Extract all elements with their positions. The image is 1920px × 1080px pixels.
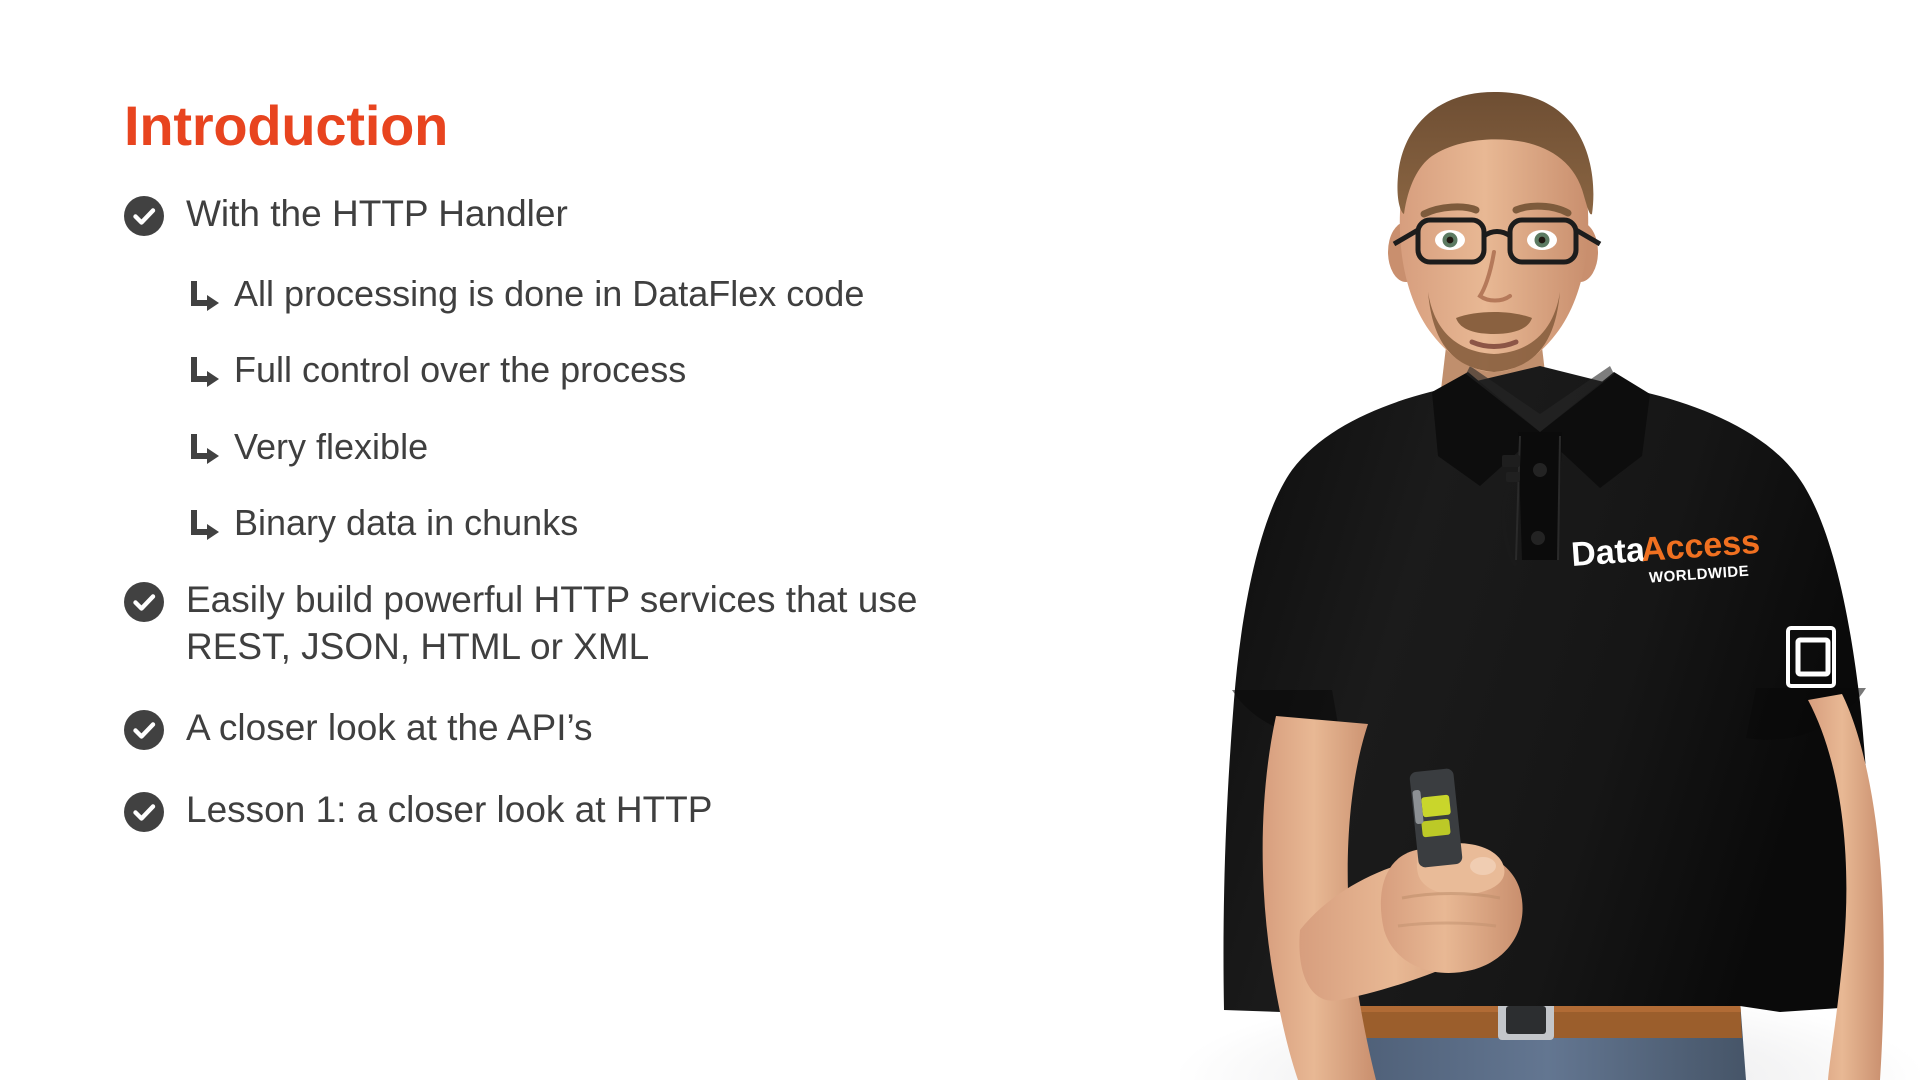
list-item: Very flexible xyxy=(124,424,1174,470)
floor-shadow xyxy=(1180,990,1920,1080)
list-item-label: Lesson 1: a closer look at HTTP xyxy=(186,786,712,833)
hook-arrow-icon xyxy=(190,275,222,315)
presenter-hand xyxy=(1381,843,1523,973)
belt xyxy=(1354,1000,1742,1040)
check-circle-icon xyxy=(124,710,164,750)
svg-text:Data: Data xyxy=(1570,531,1647,574)
sleeve-logo-badge xyxy=(1788,628,1834,686)
list-item: All processing is done in DataFlex code xyxy=(124,271,1174,317)
hook-arrow-icon xyxy=(190,504,222,544)
list-item: Full control over the process xyxy=(124,347,1174,393)
bullet-list: With the HTTP Handler All processing is … xyxy=(124,190,1174,833)
list-item-label: Easily build powerful HTTP services that… xyxy=(186,576,917,671)
hook-arrow-icon xyxy=(190,351,222,391)
list-item: A closer look at the API’s xyxy=(124,704,1174,751)
list-item-label: With the HTTP Handler xyxy=(186,190,568,237)
check-circle-icon xyxy=(124,582,164,622)
polo-shirt xyxy=(1223,366,1871,1014)
list-item-label: All processing is done in DataFlex code xyxy=(234,271,864,317)
eyeglasses xyxy=(1394,220,1600,262)
check-circle-icon xyxy=(124,792,164,832)
hook-arrow-icon xyxy=(190,428,222,468)
jeans xyxy=(1350,1000,1746,1080)
presenter-head xyxy=(1388,92,1600,372)
list-item-label: Full control over the process xyxy=(234,347,686,393)
list-item: Lesson 1: a closer look at HTTP xyxy=(124,786,1174,833)
presentation-remote xyxy=(1409,768,1463,868)
page-title: Introduction xyxy=(124,98,448,154)
svg-text:WORLDWIDE: WORLDWIDE xyxy=(1648,563,1749,587)
list-item: Easily build powerful HTTP services that… xyxy=(124,576,1174,671)
presentation-slide: Introduction With the HTTP Handler All p… xyxy=(0,0,1920,1080)
list-item-label: Very flexible xyxy=(234,424,428,470)
check-circle-icon xyxy=(124,196,164,236)
lapel-microphone xyxy=(1502,455,1520,566)
svg-text:Access: Access xyxy=(1640,523,1761,569)
list-item-label: A closer look at the API’s xyxy=(186,704,593,751)
list-item: Binary data in chunks xyxy=(124,500,1174,546)
presenter-arm-left xyxy=(1263,716,1512,1080)
list-item-label: Binary data in chunks xyxy=(234,500,578,546)
presenter-video-overlay: Data Access WORLDWIDE xyxy=(1180,0,1920,1080)
list-item: With the HTTP Handler xyxy=(124,190,1174,237)
shirt-logo: Data Access WORLDWIDE xyxy=(1570,523,1763,592)
